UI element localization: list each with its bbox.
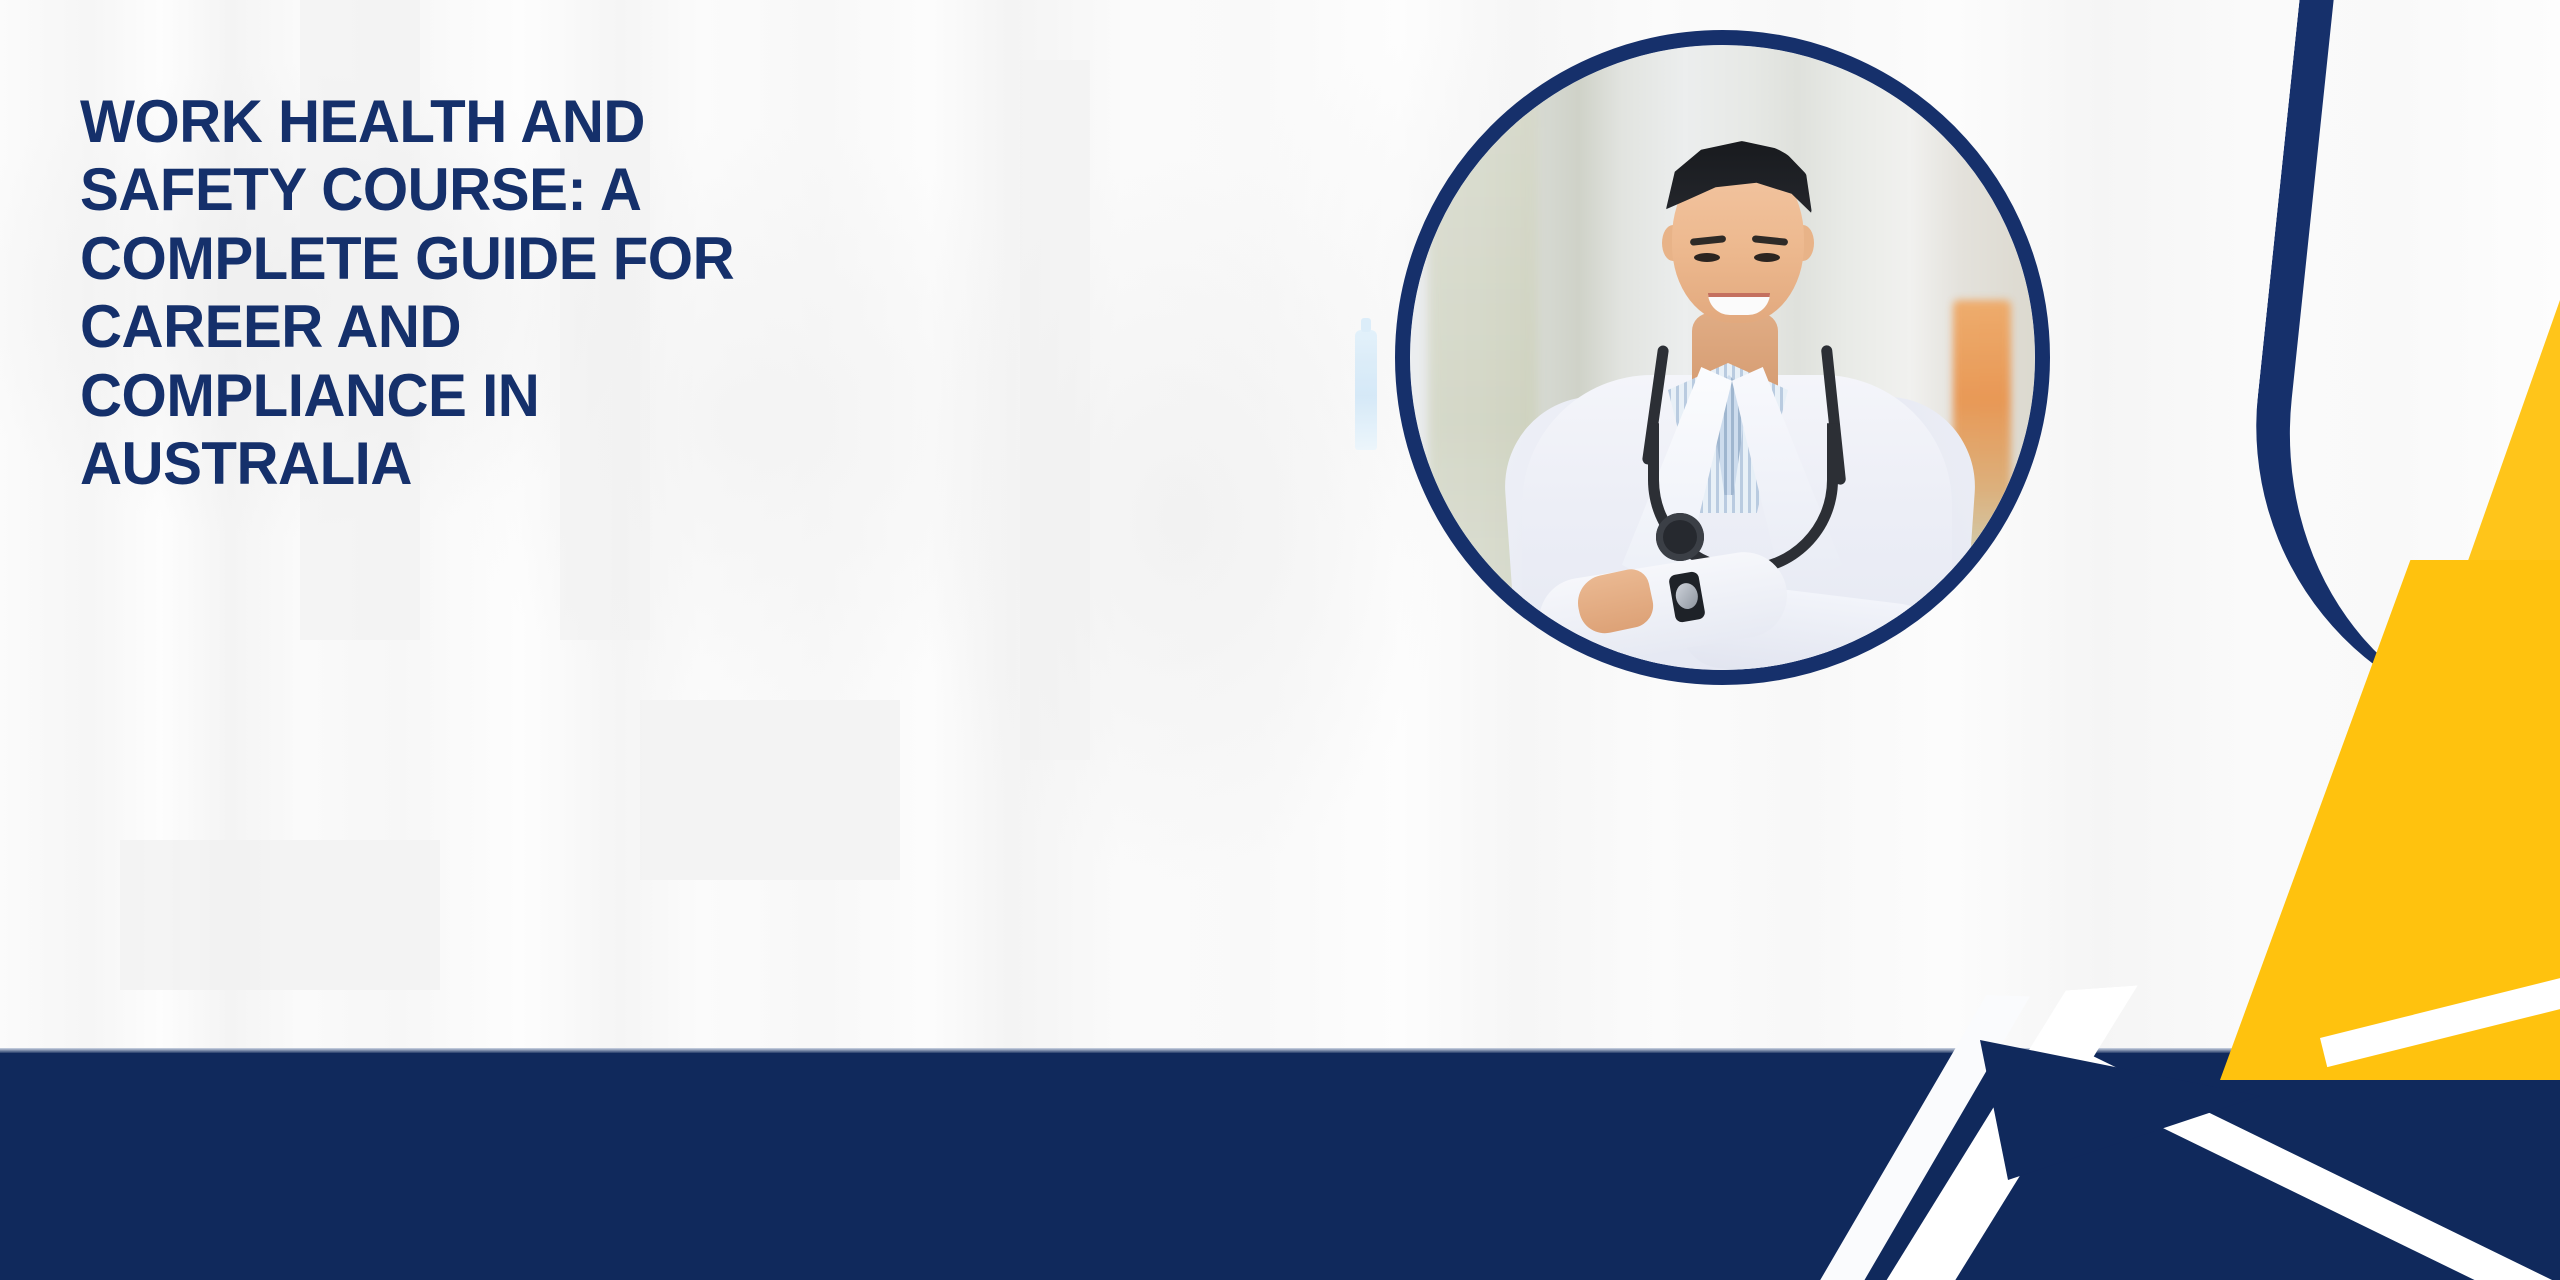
eye-left	[1694, 253, 1720, 262]
headline-line-5: COMPLIANCE IN	[80, 362, 720, 430]
doctor-figure	[1410, 45, 2035, 670]
portrait-photo	[1410, 45, 2035, 670]
portrait-ring	[1395, 30, 2050, 685]
background-iv-bottle	[1355, 330, 1377, 450]
doctor-portrait	[1395, 30, 2050, 685]
eye-right	[1754, 253, 1780, 262]
headline-line-6: AUSTRALIA	[80, 430, 720, 498]
headline-line-2: SAFETY COURSE: A	[80, 156, 720, 224]
background-blob	[1020, 60, 1090, 760]
headline-line-1: WORK HEALTH AND	[80, 88, 720, 156]
headline-line-4: CAREER AND	[80, 293, 720, 361]
background-streak	[640, 700, 900, 880]
page-title: WORK HEALTH AND SAFETY COURSE: A COMPLET…	[80, 88, 720, 498]
background-streak	[120, 840, 440, 990]
stethoscope-chestpiece	[1656, 513, 1704, 561]
headline-line-3: COMPLETE GUIDE FOR	[80, 225, 720, 293]
hero-banner: WORK HEALTH AND SAFETY COURSE: A COMPLET…	[0, 0, 2560, 1280]
